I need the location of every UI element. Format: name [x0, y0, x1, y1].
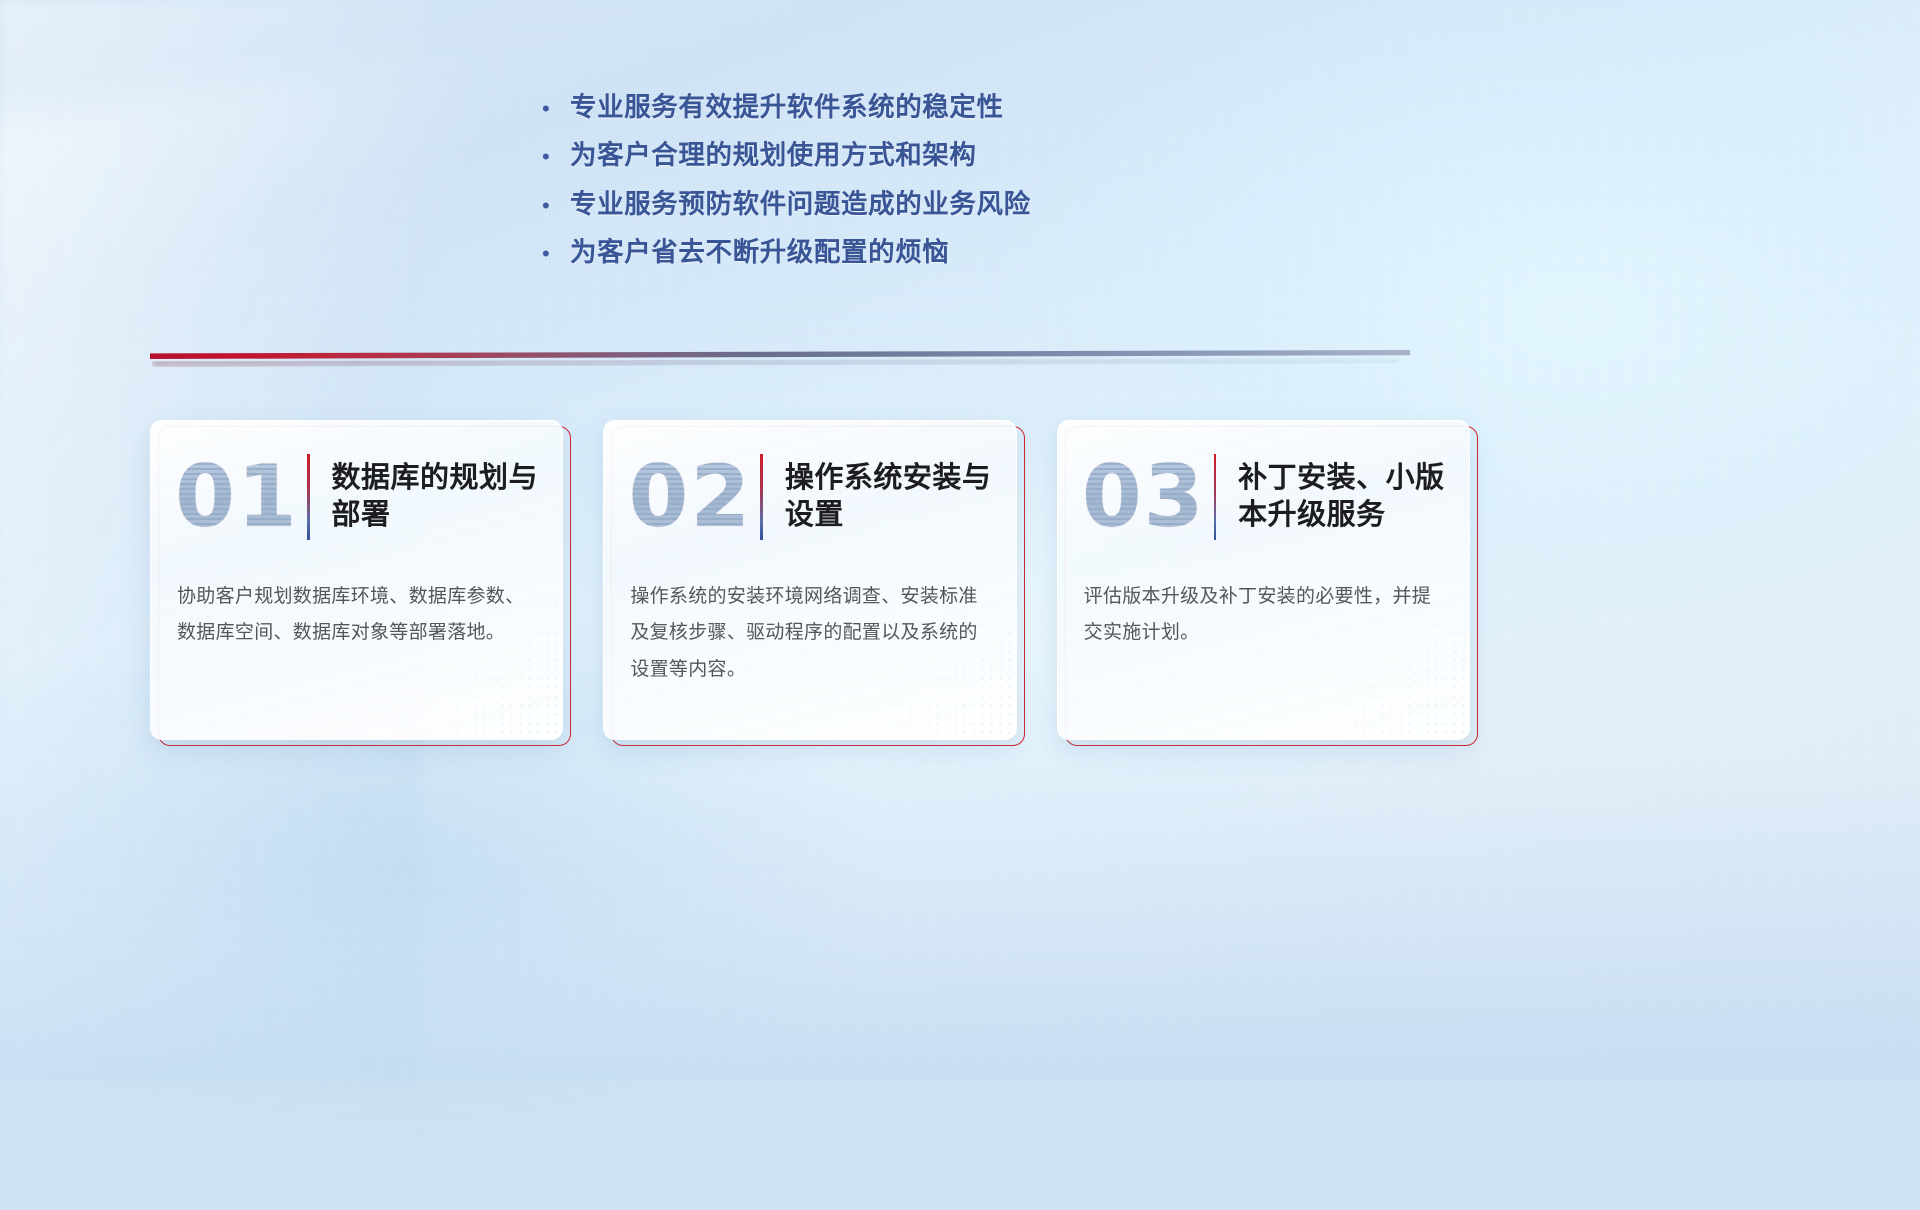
card-header: 02 操作系统安装与设置	[604, 421, 1015, 573]
card-title: 数据库的规划与部署	[332, 460, 539, 534]
card-number-label: 02	[628, 454, 752, 540]
card-number-watermark: 01	[173, 447, 301, 547]
card-accent-bar	[760, 454, 763, 540]
card-header: 03 补丁安装、小版本升级服务	[1058, 421, 1469, 573]
benefits-bullet-list: • 专业服务有效提升软件系统的稳定性 • 为客户合理的规划使用方式和架构 • 专…	[536, 92, 1276, 285]
card-title: 补丁安装、小版本升级服务	[1238, 460, 1445, 534]
card-header: 01 数据库的规划与部署	[151, 421, 562, 573]
service-card-01[interactable]: 01 数据库的规划与部署 协助客户规划数据库环境、数据库参数、数据库空间、数据库…	[150, 420, 563, 740]
bullet-marker-icon: •	[536, 146, 570, 168]
bullet-item-label: 为客户合理的规划使用方式和架构	[570, 140, 977, 171]
bullet-item-label: 专业服务预防软件问题造成的业务风险	[570, 189, 1031, 220]
service-card-02[interactable]: 02 操作系统安装与设置 操作系统的安装环境网络调查、安装标准及复核步骤、驱动程…	[603, 420, 1016, 740]
card-surface: 01 数据库的规划与部署 协助客户规划数据库环境、数据库参数、数据库空间、数据库…	[150, 420, 563, 740]
card-description: 评估版本升级及补丁安装的必要性，并提交实施计划。	[1058, 573, 1469, 652]
service-card-03[interactable]: 03 补丁安装、小版本升级服务 评估版本升级及补丁安装的必要性，并提交实施计划。	[1057, 420, 1470, 740]
service-card-list: 01 数据库的规划与部署 协助客户规划数据库环境、数据库参数、数据库空间、数据库…	[150, 420, 1470, 740]
section-divider-shadow	[152, 358, 1399, 367]
card-accent-bar	[1214, 454, 1217, 540]
card-description: 操作系统的安装环境网络调查、安装标准及复核步骤、驱动程序的配置以及系统的设置等内…	[604, 573, 1015, 688]
bullet-item-4: • 为客户省去不断升级配置的烦恼	[536, 237, 1276, 268]
card-number-watermark: 03	[1080, 447, 1208, 547]
card-surface: 02 操作系统安装与设置 操作系统的安装环境网络调查、安装标准及复核步骤、驱动程…	[603, 420, 1016, 740]
bullet-item-label: 为客户省去不断升级配置的烦恼	[570, 237, 949, 268]
bullet-item-3: • 专业服务预防软件问题造成的业务风险	[536, 189, 1276, 220]
bullet-item-2: • 为客户合理的规划使用方式和架构	[536, 140, 1276, 171]
section-divider	[150, 344, 1410, 370]
card-surface: 03 补丁安装、小版本升级服务 评估版本升级及补丁安装的必要性，并提交实施计划。	[1057, 420, 1470, 740]
section-divider-line	[150, 350, 1410, 359]
card-number-label: 01	[175, 454, 299, 540]
card-title: 操作系统安装与设置	[785, 460, 992, 534]
bullet-item-1: • 专业服务有效提升软件系统的稳定性	[536, 92, 1276, 123]
bullet-marker-icon: •	[536, 243, 570, 265]
card-number-watermark: 02	[626, 447, 754, 547]
card-number-label: 03	[1082, 454, 1206, 540]
bullet-marker-icon: •	[536, 195, 570, 217]
card-description: 协助客户规划数据库环境、数据库参数、数据库空间、数据库对象等部署落地。	[151, 573, 562, 652]
bullet-marker-icon: •	[536, 98, 570, 120]
card-accent-bar	[307, 454, 310, 540]
bullet-item-label: 专业服务有效提升软件系统的稳定性	[570, 92, 1004, 123]
